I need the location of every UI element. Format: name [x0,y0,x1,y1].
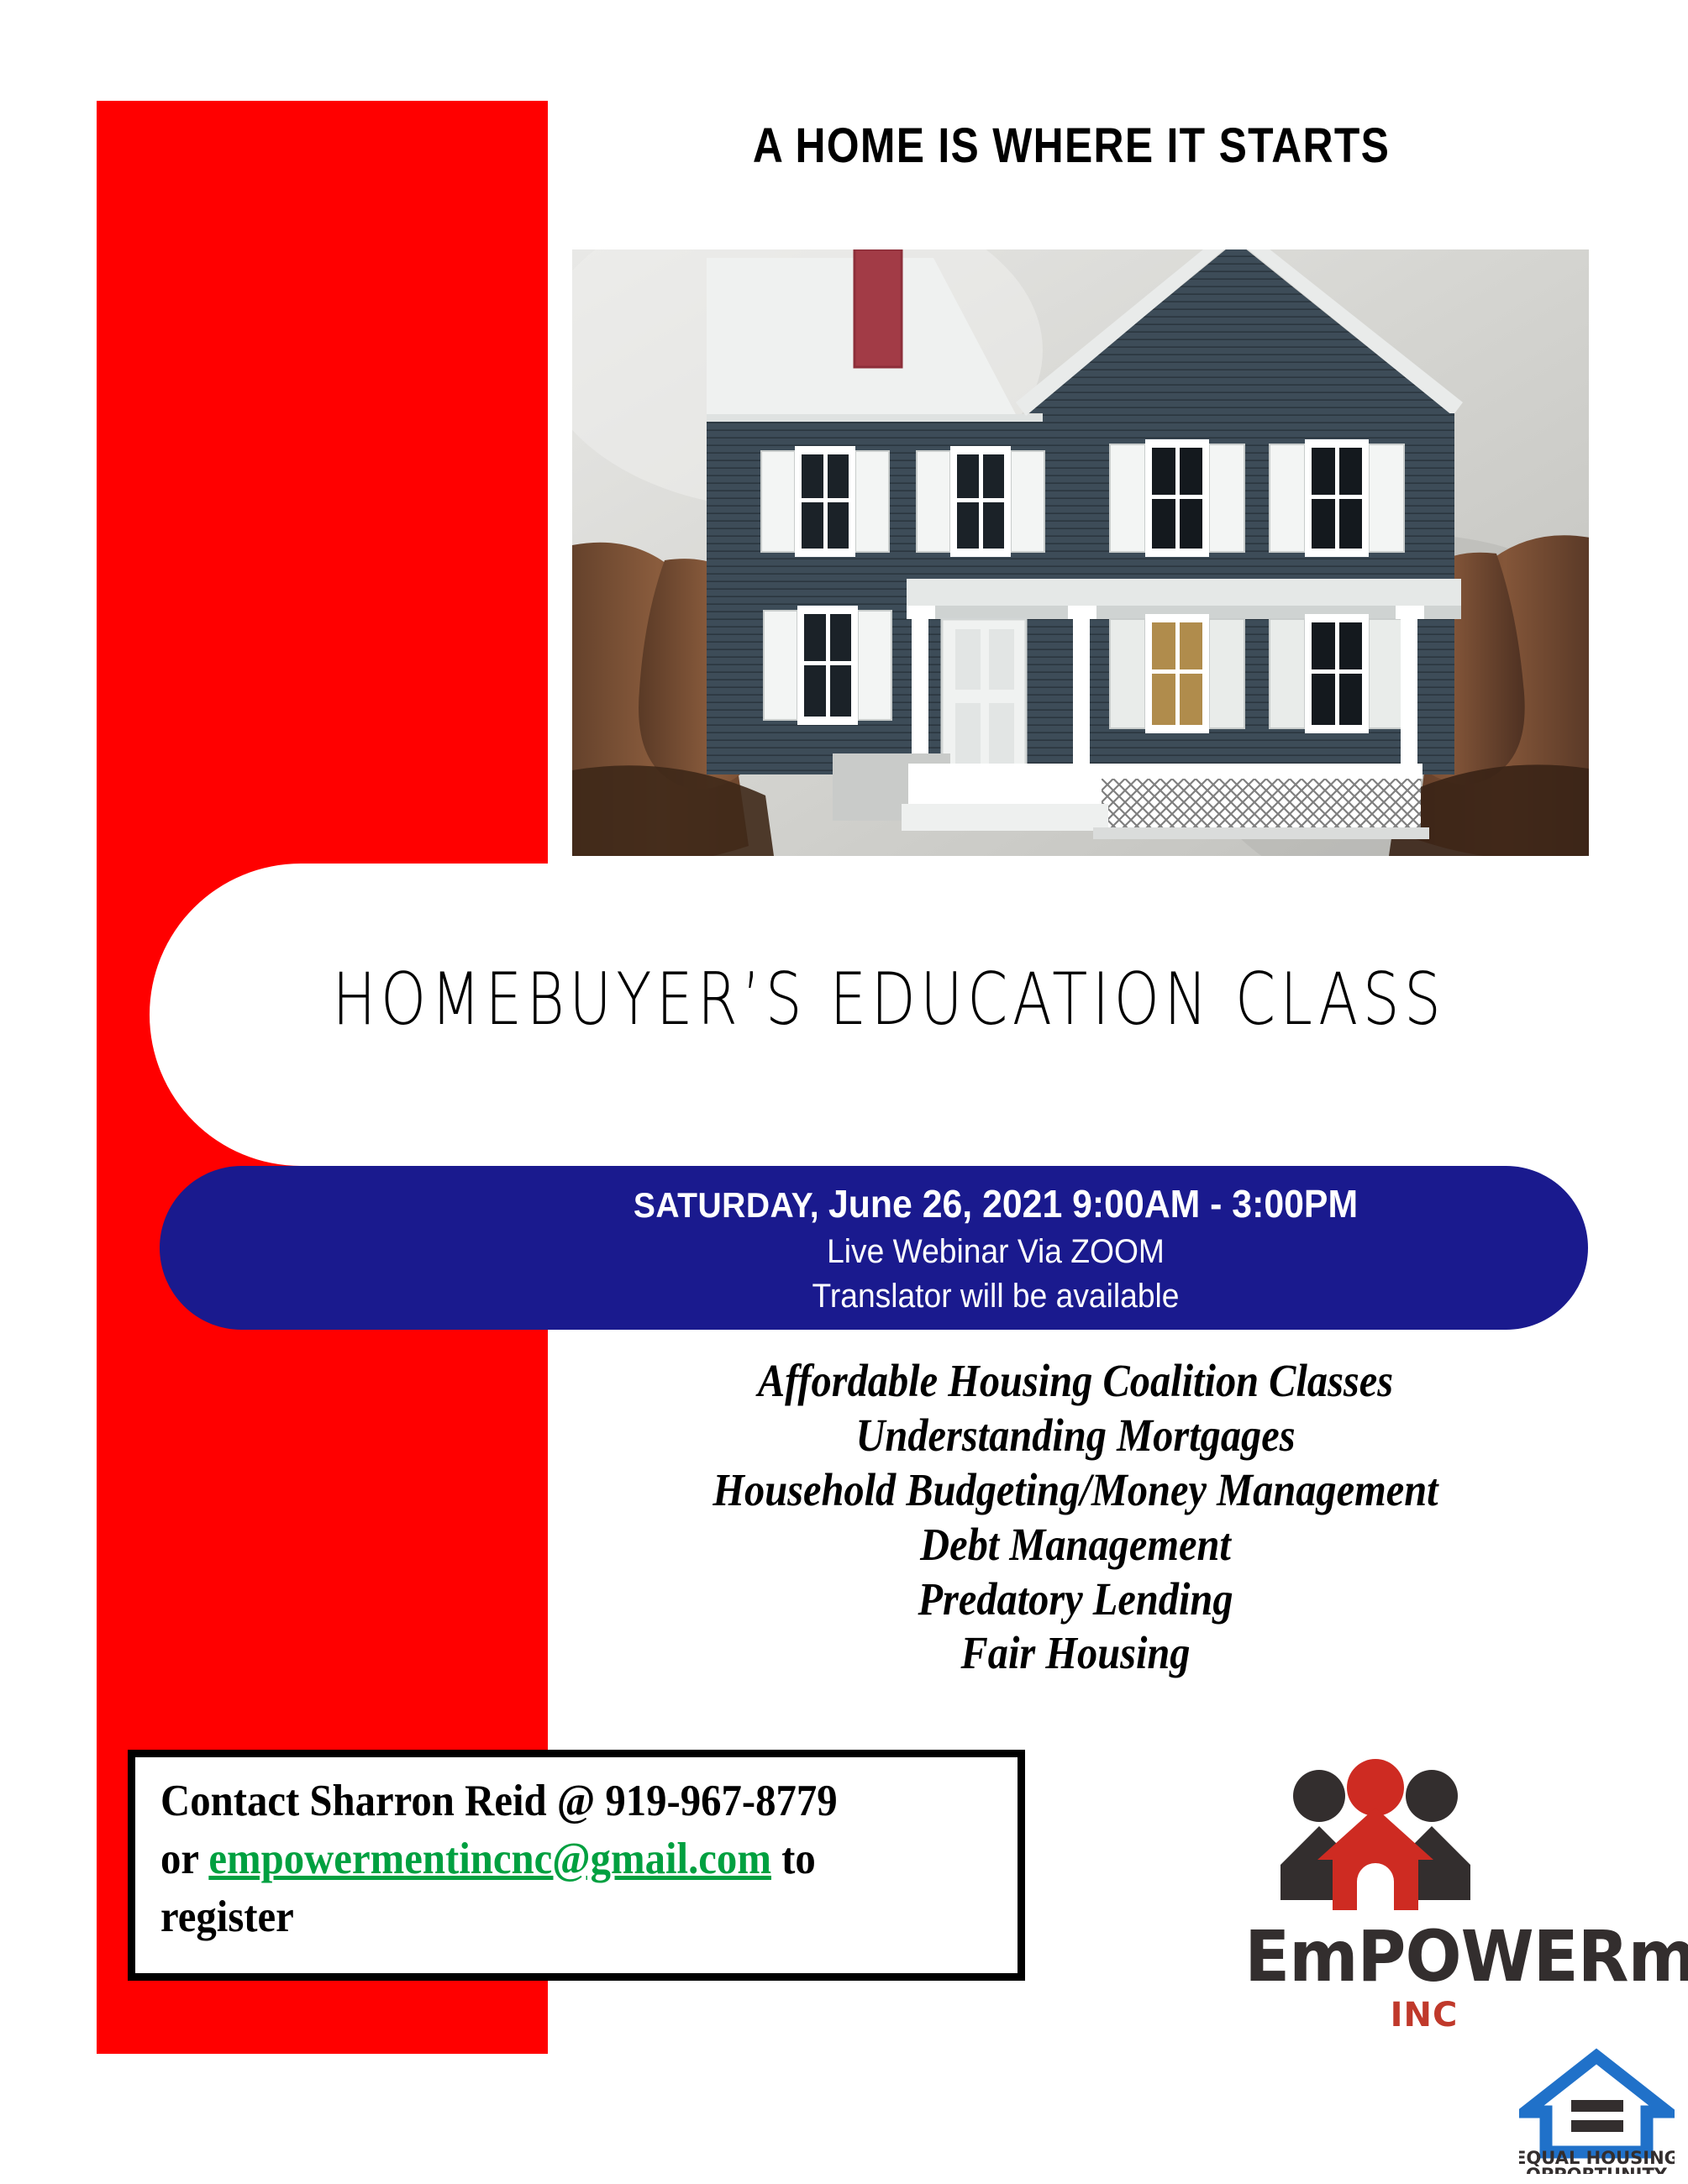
equal-housing-opportunity-logo: EQUAL HOUSING OPPORTUNITY [1519,2048,1675,2174]
list-item: Affordable Housing Coalition Classes [617,1354,1533,1409]
eho-icon: EQUAL HOUSING OPPORTUNITY [1519,2048,1675,2174]
house-photo-illustration [572,249,1589,856]
list-item: Household Budgeting/Money Management [617,1463,1533,1518]
event-format-line: Live Webinar Via ZOOM [492,1233,1500,1271]
hands-holding-house-photo [572,249,1589,856]
logo-wordmark: EmPOWERment [1244,1915,1671,1998]
empowerment-logo: EmPOWERment INC [1252,1756,1688,2058]
logo-inc-suffix: INC [1231,1996,1617,2034]
contact-register-word: register [160,1893,294,1941]
contact-phone-line: Contact Sharron Reid @ 919-967-8779 [160,1777,838,1825]
list-item: Predatory Lending [617,1572,1533,1627]
contact-or-suffix: to [771,1835,816,1883]
eho-line2: OPPORTUNITY [1526,2165,1668,2174]
page-headline: A HOME IS WHERE IT STARTS [627,118,1516,174]
logo-mark-svg [1270,1756,1480,1915]
contact-box: Contact Sharron Reid @ 919-967-8779 or e… [128,1750,1025,1981]
class-topics-list: Affordable Housing Coalition Classes Und… [555,1354,1596,1681]
three-people-house-icon [1270,1756,1480,1915]
contact-or-prefix: or [160,1835,208,1883]
event-day-label: SATURDAY, [634,1185,819,1225]
page-title: HOMEBUYER’S EDUCATION CLASS [297,958,1480,1042]
contact-email-link[interactable]: empowermentincnc@gmail.com [208,1835,771,1883]
list-item: Debt Management [617,1518,1533,1572]
event-translator-line: Translator will be available [492,1278,1500,1315]
list-item: Understanding Mortgages [617,1409,1533,1463]
event-datetime-line: SATURDAY, June 26, 2021 9:00AM - 3:00PM [492,1181,1500,1226]
event-details-content: SATURDAY, June 26, 2021 9:00AM - 3:00PM … [160,1166,1588,1330]
contact-text: Contact Sharron Reid @ 919-967-8779 or e… [160,1772,941,1946]
list-item: Fair Housing [617,1626,1533,1681]
event-date-time: June 26, 2021 9:00AM - 3:00PM [828,1182,1358,1226]
